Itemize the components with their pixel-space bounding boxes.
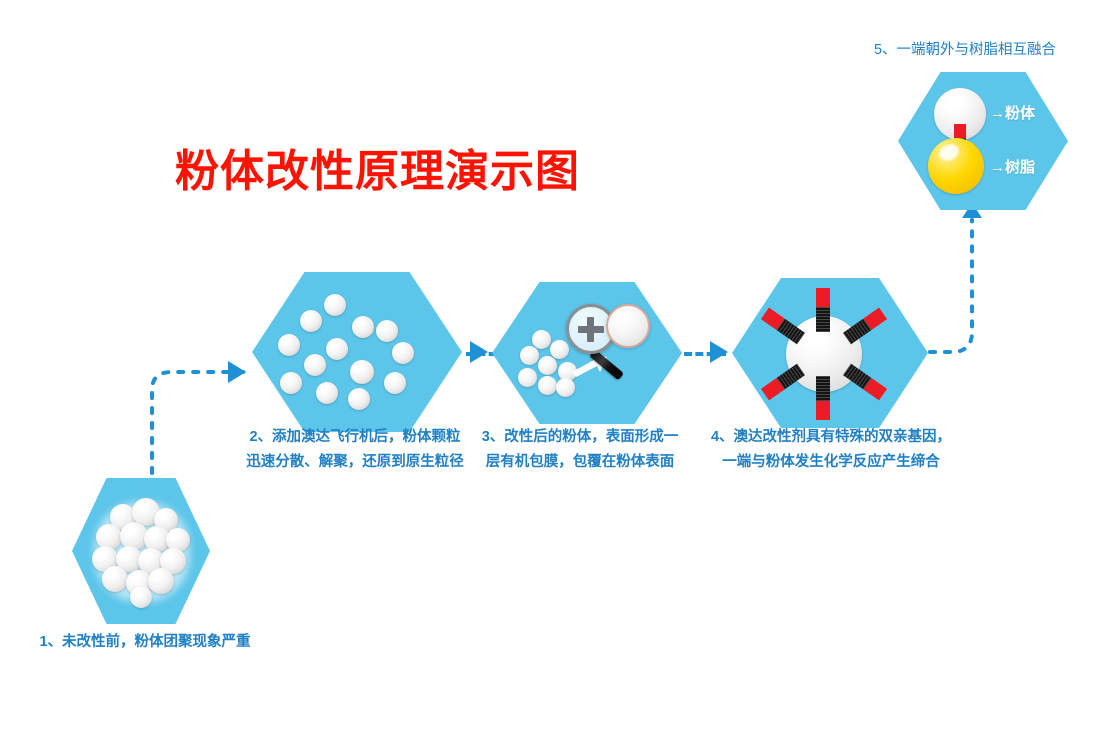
- hexagon-step-2[interactable]: [252, 272, 462, 432]
- powder-particle: [550, 340, 569, 359]
- hexagon-step-4-illustration: [732, 278, 928, 428]
- hexagon-step-1-illustration: [72, 478, 210, 624]
- hexagon-step-1[interactable]: [72, 478, 210, 624]
- coated-particle: [606, 304, 650, 348]
- caption-step-1: 1、未改性前，粉体团聚现象严重: [0, 630, 290, 655]
- caption-step-4: 4、澳达改性剂具有特殊的双亲基因， 一端与粉体发生化学反应产生缔合: [700, 425, 962, 475]
- powder-particle: [280, 372, 302, 394]
- powder-particle: [348, 388, 370, 410]
- hexagon-step-5-illustration: →粉体 →树脂: [898, 72, 1068, 210]
- hexagon-step-3-illustration: [492, 282, 682, 424]
- powder-particle: [278, 334, 300, 356]
- powder-particle: [352, 316, 374, 338]
- powder-particle: [376, 320, 398, 342]
- plus-icon-bar-v: [587, 317, 594, 342]
- arrowhead-step2: [228, 361, 246, 383]
- arrowhead-step4: [710, 341, 728, 363]
- resin-sphere: [928, 138, 984, 194]
- powder-particle: [520, 346, 539, 365]
- caption-step-4-line-1: 4、澳达改性剂具有特殊的双亲基因，: [700, 425, 962, 450]
- hexagon-step-3[interactable]: [492, 282, 682, 424]
- hexagon-step-4[interactable]: [732, 278, 928, 428]
- caption-step-5: 5、一端朝外与树脂相互融合: [845, 38, 1085, 63]
- powder-particle: [392, 342, 414, 364]
- caption-step-5-line-1: 5、一端朝外与树脂相互融合: [845, 38, 1085, 63]
- diagram-canvas: 粉体改性原理演示图: [0, 0, 1100, 750]
- powder-particle: [556, 378, 575, 397]
- powder-particle: [350, 360, 374, 384]
- powder-particle: [384, 372, 406, 394]
- powder-particle: [304, 354, 326, 376]
- powder-particle: [324, 294, 346, 316]
- powder-particle: [102, 566, 128, 592]
- legend-resin: →树脂: [990, 156, 1035, 177]
- caption-step-3: 3、改性后的粉体，表面形成一 层有机包膜，包覆在粉体表面: [460, 425, 700, 475]
- powder-particle: [130, 586, 152, 608]
- powder-particle: [316, 382, 338, 404]
- modifier-bar: [816, 376, 830, 420]
- caption-step-3-line-1: 3、改性后的粉体，表面形成一: [460, 425, 700, 450]
- powder-particle: [532, 330, 551, 349]
- caption-step-3-line-2: 层有机包膜，包覆在粉体表面: [460, 450, 700, 475]
- powder-particle: [538, 376, 557, 395]
- modifier-bar: [816, 288, 830, 332]
- hexagon-step-5[interactable]: →粉体 →树脂: [898, 72, 1068, 210]
- arrowhead-step3: [470, 341, 488, 363]
- legend-powder: →粉体: [990, 102, 1035, 123]
- powder-particle: [326, 338, 348, 360]
- caption-step-4-line-2: 一端与粉体发生化学反应产生缔合: [700, 450, 962, 475]
- page-title: 粉体改性原理演示图: [175, 135, 580, 199]
- caption-step-1-line-1: 1、未改性前，粉体团聚现象严重: [0, 630, 290, 655]
- powder-particle: [538, 356, 557, 375]
- powder-particle: [148, 568, 174, 594]
- powder-particle: [518, 368, 537, 387]
- powder-particle: [300, 310, 322, 332]
- hexagon-step-2-illustration: [252, 272, 462, 432]
